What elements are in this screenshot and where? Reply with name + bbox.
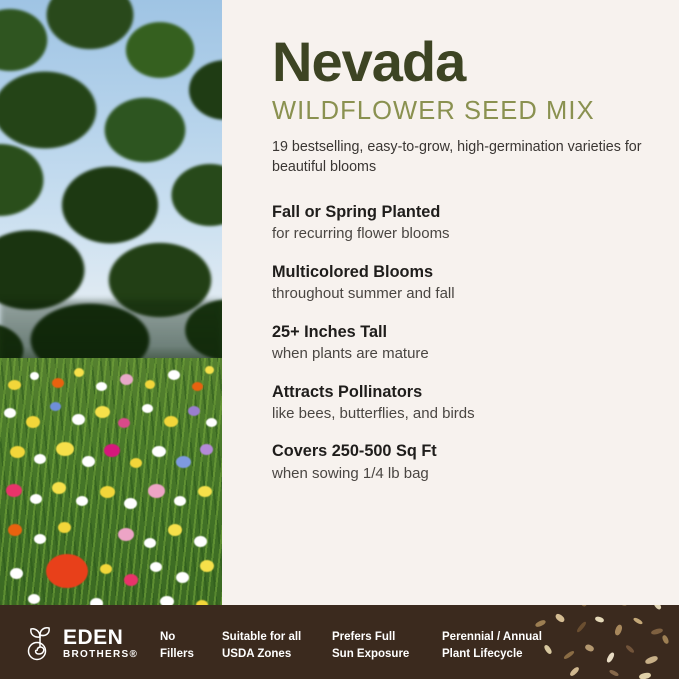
flower: [144, 538, 156, 548]
seed: [543, 644, 553, 655]
seed: [617, 605, 628, 607]
seed: [594, 616, 604, 624]
seed: [651, 628, 664, 636]
flower: [124, 574, 138, 586]
flower: [192, 382, 203, 391]
flower: [152, 446, 166, 457]
flower: [58, 522, 71, 533]
seed: [606, 651, 616, 663]
flower: [176, 456, 191, 468]
feature-item: Covers 250-500 Sq Ftwhen sowing 1/4 lb b…: [272, 441, 672, 483]
flower: [56, 442, 74, 456]
sprout-seedling-icon: [24, 625, 56, 661]
seed: [625, 644, 635, 654]
flower: [176, 572, 189, 583]
flower: [174, 496, 186, 506]
flower: [206, 418, 217, 427]
flower: [164, 416, 178, 427]
wildflower-meadow-photo: [0, 0, 222, 618]
flower: [52, 482, 66, 494]
flower: [198, 486, 212, 497]
product-card: Nevada WILDFLOWER SEED MIX 19 bestsellin…: [0, 0, 679, 679]
flower: [118, 528, 134, 541]
seed: [661, 634, 669, 644]
flower: [145, 380, 155, 389]
flower: [100, 564, 112, 574]
seed: [554, 612, 566, 623]
seed: [576, 621, 587, 634]
flower: [142, 404, 153, 413]
flower: [50, 402, 61, 411]
flower: [200, 444, 213, 455]
feature-subtext: like bees, butterflies, and birds: [272, 404, 672, 424]
flower: [124, 498, 137, 509]
seed: [534, 619, 546, 628]
flower: [95, 406, 110, 418]
seed-pile-photo: [529, 605, 679, 679]
flower: [200, 560, 214, 572]
seed: [563, 650, 575, 660]
flower: [46, 554, 88, 588]
feature-item: Attracts Pollinatorslike bees, butterfli…: [272, 382, 672, 424]
seed: [633, 617, 644, 625]
flower: [82, 456, 95, 467]
flower: [150, 562, 162, 572]
feature-subtext: for recurring flower blooms: [272, 224, 672, 244]
flower: [10, 568, 23, 579]
product-info-panel: Nevada WILDFLOWER SEED MIX 19 bestsellin…: [272, 0, 672, 501]
flower: [30, 494, 42, 504]
feature-heading: Attracts Pollinators: [272, 382, 672, 402]
flower: [72, 414, 85, 425]
flower: [52, 378, 64, 388]
flower: [26, 416, 40, 428]
feature-item: Multicolored Bloomsthroughout summer and…: [272, 262, 672, 304]
brand-name-primary: EDEN: [63, 627, 138, 648]
product-subtitle: WILDFLOWER SEED MIX: [272, 99, 672, 125]
flower: [148, 484, 165, 498]
feature-list: Fall or Spring Plantedfor recurring flow…: [272, 202, 672, 483]
seed: [639, 672, 652, 679]
seed: [614, 624, 623, 636]
footer-badge: Prefers Full Sun Exposure: [332, 629, 442, 662]
flower: [168, 524, 182, 536]
product-description: 19 bestselling, easy-to-grow, high-germi…: [272, 137, 672, 178]
feature-subtext: when sowing 1/4 lb bag: [272, 464, 672, 484]
seed: [579, 605, 588, 607]
flower: [104, 444, 120, 457]
feature-subtext: when plants are mature: [272, 344, 672, 364]
flower: [76, 496, 88, 506]
meadow-layer: [0, 358, 222, 618]
flower: [74, 368, 84, 377]
flower: [168, 370, 180, 380]
flower: [96, 382, 107, 391]
footer-badge-list: No FillersSuitable for all USDA ZonesPre…: [160, 629, 572, 662]
feature-heading: 25+ Inches Tall: [272, 322, 672, 342]
flower: [6, 484, 22, 497]
flower: [205, 366, 214, 374]
page-title: Nevada: [272, 34, 672, 90]
flower: [34, 454, 46, 464]
feature-heading: Covers 250-500 Sq Ft: [272, 441, 672, 461]
flower: [8, 380, 21, 390]
seed: [584, 643, 595, 652]
seed: [653, 605, 663, 611]
flower: [130, 458, 142, 468]
flower: [188, 406, 200, 416]
feature-item: Fall or Spring Plantedfor recurring flow…: [272, 202, 672, 244]
flower: [30, 372, 39, 380]
brand-logo[interactable]: EDEN BROTHERS®: [24, 625, 138, 661]
brand-name-secondary: BROTHERS®: [63, 650, 138, 660]
footer-badge: No Fillers: [160, 629, 222, 662]
flower: [34, 534, 46, 544]
flower: [194, 536, 207, 547]
flower: [10, 446, 25, 458]
flower: [4, 408, 16, 418]
feature-subtext: throughout summer and fall: [272, 284, 672, 304]
feature-heading: Multicolored Blooms: [272, 262, 672, 282]
flower: [28, 594, 40, 604]
flower: [120, 374, 133, 385]
flower: [118, 418, 130, 428]
footer-bar: EDEN BROTHERS® No FillersSuitable for al…: [0, 605, 679, 679]
feature-item: 25+ Inches Tallwhen plants are mature: [272, 322, 672, 364]
footer-badge: Suitable for all USDA Zones: [222, 629, 332, 662]
flower: [100, 486, 115, 498]
flower: [8, 524, 22, 536]
seed: [644, 655, 658, 665]
feature-heading: Fall or Spring Planted: [272, 202, 672, 222]
seed: [609, 669, 620, 677]
seed: [569, 666, 580, 677]
